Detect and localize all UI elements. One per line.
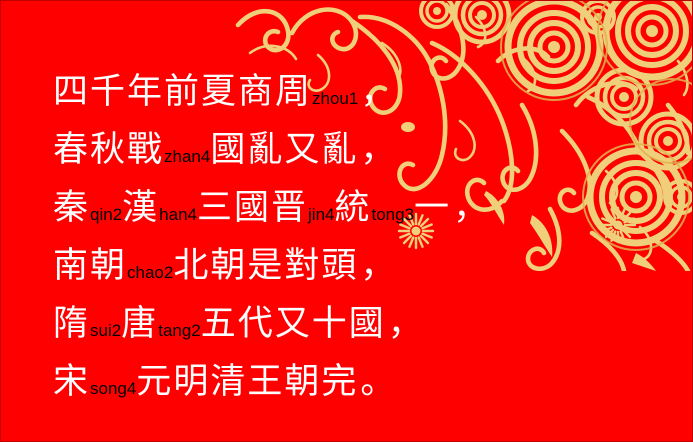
verse-text-block: 四千年前夏商周zhou1， 春秋戰zhan4國亂又亂， 秦qin2漢han4三國… xyxy=(1,1,693,442)
han-text: 四千年前夏商周 xyxy=(53,72,312,112)
punctuation: ， xyxy=(358,130,395,170)
pinyin-annotation: qin2 xyxy=(90,205,122,224)
punctuation: ， xyxy=(386,304,423,344)
punctuation: 。 xyxy=(358,362,395,402)
pinyin-annotation: tong3 xyxy=(372,205,415,224)
pinyin-annotation: zhan4 xyxy=(164,147,210,166)
han-text: 統 xyxy=(334,188,371,228)
han-text: 秦 xyxy=(53,188,90,228)
verse-line-4: 南朝chao2北朝是對頭， xyxy=(53,237,693,295)
pinyin-annotation: tang2 xyxy=(158,321,201,340)
verse-line-2: 春秋戰zhan4國亂又亂， xyxy=(53,121,693,179)
verse-line-5: 隋sui2唐tang2五代又十國， xyxy=(53,295,693,353)
punctuation: ， xyxy=(358,246,395,286)
verse-line-3: 秦qin2漢han4三國晋jin4統tong3一， xyxy=(53,179,693,237)
han-text: 春秋戰 xyxy=(53,130,164,170)
pinyin-annotation: jin4 xyxy=(308,205,334,224)
han-text: 漢 xyxy=(122,188,159,228)
han-text: 北朝是對頭 xyxy=(173,246,358,286)
poster-canvas: 四千年前夏商周zhou1， 春秋戰zhan4國亂又亂， 秦qin2漢han4三國… xyxy=(0,0,693,442)
han-text: 五代又十國 xyxy=(201,304,386,344)
verse-line-6: 宋song4元明清王朝完。 xyxy=(53,353,693,411)
pinyin-annotation: chao2 xyxy=(127,263,173,282)
pinyin-annotation: han4 xyxy=(159,205,197,224)
han-text: 唐 xyxy=(121,304,158,344)
han-text: 一 xyxy=(414,188,451,228)
verse-line-1: 四千年前夏商周zhou1， xyxy=(53,63,693,121)
pinyin-annotation: zhou1 xyxy=(312,89,358,108)
han-text: 三國晋 xyxy=(197,188,308,228)
pinyin-annotation: song4 xyxy=(90,379,136,398)
han-text: 國亂又亂 xyxy=(210,130,358,170)
han-text: 隋 xyxy=(53,304,90,344)
pinyin-annotation: sui2 xyxy=(90,321,121,340)
han-text: 元明清王朝完 xyxy=(136,362,358,402)
han-text: 宋 xyxy=(53,362,90,402)
han-text: 南朝 xyxy=(53,246,127,286)
punctuation: ， xyxy=(358,72,395,112)
punctuation: ， xyxy=(451,188,488,228)
